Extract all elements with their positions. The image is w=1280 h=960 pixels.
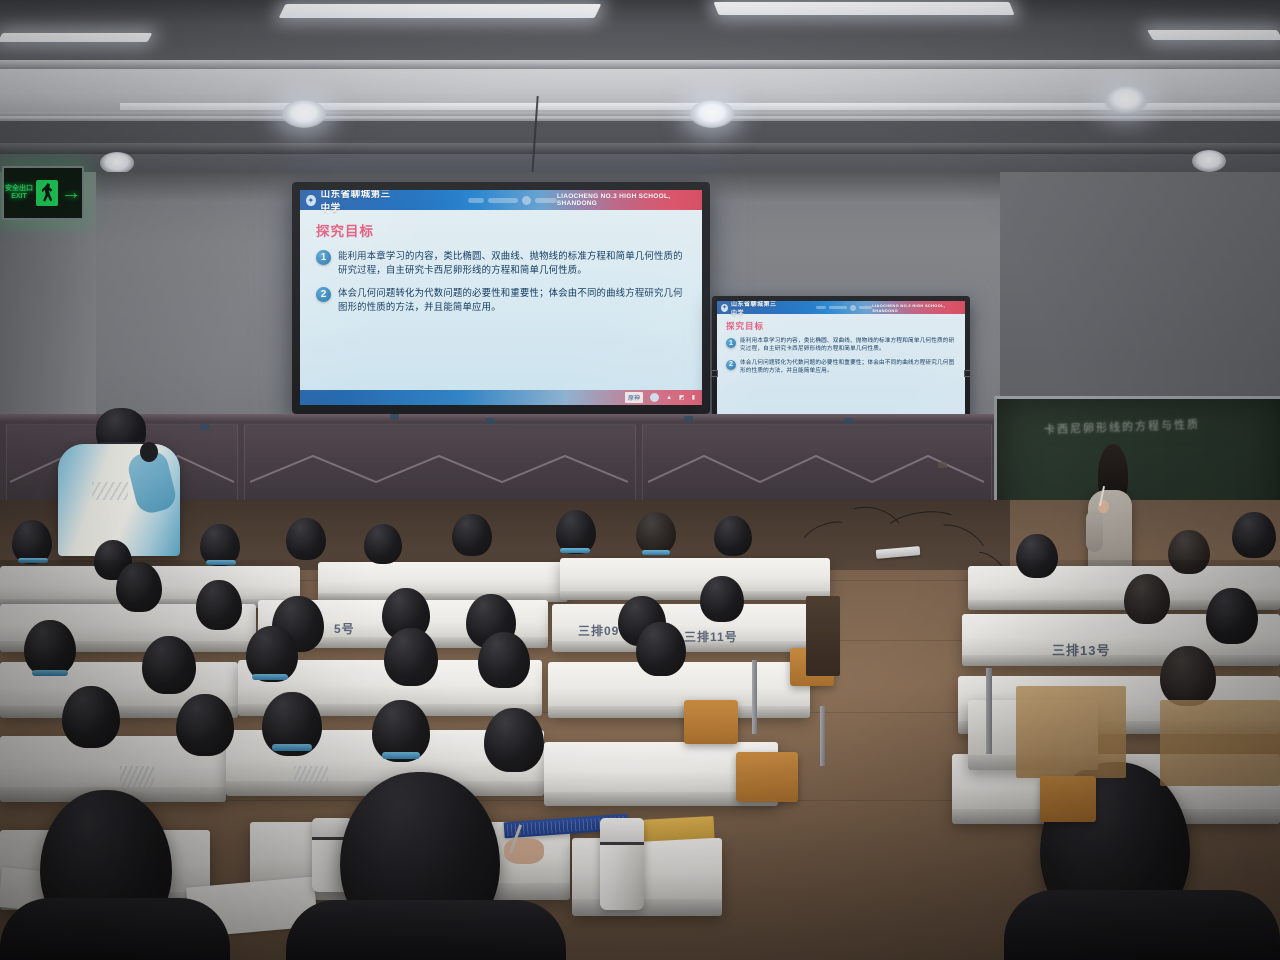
- ceiling-downlight: [1192, 150, 1226, 172]
- ceiling-downlight: [100, 152, 134, 174]
- slide-title: 探究目标: [726, 320, 957, 332]
- slide-header-decor: [816, 305, 872, 311]
- main-projection-screen[interactable]: ✦ 山东省聊城第三中学 LIAOCHENG NO.3 HIGH SCHOOL, …: [292, 182, 710, 414]
- time-icon[interactable]: ▮: [692, 394, 695, 401]
- app-icon[interactable]: [650, 393, 659, 402]
- ceiling-downlight: [690, 100, 734, 128]
- ceiling-light-strip: [1147, 30, 1280, 40]
- ceiling-beam: [0, 143, 1280, 154]
- ceiling-downlight: [282, 100, 326, 128]
- wall-socket[interactable]: [684, 416, 693, 422]
- student-head: [636, 512, 676, 554]
- slide-header-bar: ✦ 山东省聊城第三中学 LIAOCHENG NO.3 HIGH SCHOOL, …: [717, 301, 965, 314]
- ceiling-downlight: [1104, 86, 1148, 114]
- bullet-number-badge: 1: [316, 250, 331, 265]
- teacher-standing-at-blackboard: [1084, 444, 1134, 576]
- floor-shadow: [0, 560, 1280, 960]
- wainscot-chevron-molding: [648, 452, 984, 486]
- slide-school-name-en: LIAOCHENG NO.3 HIGH SCHOOL, SHANDONG: [872, 303, 960, 313]
- running-man-exit-icon: [36, 180, 58, 206]
- screen-taskbar[interactable]: 原神 ▲ ◩ ▮: [300, 390, 702, 405]
- speaker-icon[interactable]: ◩: [679, 394, 685, 401]
- taskbar-app-chip[interactable]: 原神: [625, 392, 643, 403]
- teacher-arm: [1086, 510, 1103, 552]
- student-standing-front-left: [58, 404, 186, 554]
- slide-school-name-en: LIAOCHENG NO.3 HIGH SCHOOL, SHANDONG: [557, 193, 694, 207]
- slide-body: 探究目标 1 能利用本章学习的内容，类比椭圆、双曲线、抛物线的标准方程和简单几何…: [300, 210, 702, 314]
- slide-body: 探究目标 1 能利用本章学习的内容，类比椭圆、双曲线、抛物线的标准方程和简单几何…: [717, 314, 965, 376]
- monitor-side-button[interactable]: [964, 370, 971, 377]
- bullet-text: 能利用本章学习的内容，类比椭圆、双曲线、抛物线的标准方程和简单几何性质的研究过程…: [338, 249, 688, 277]
- ceiling-beam: [0, 60, 1280, 69]
- wall-right-section: [1000, 172, 1280, 422]
- slide-bullet-item: 1 能利用本章学习的内容，类比椭圆、双曲线、抛物线的标准方程和简单几何性质的研究…: [726, 337, 957, 354]
- slide-bullet-item: 1 能利用本章学习的内容，类比椭圆、双曲线、抛物线的标准方程和简单几何性质的研究…: [316, 249, 688, 277]
- bullet-text: 体会几何问题转化为代数问题的必要性和重要性；体会由不同的曲线方程研究几何图形的性…: [338, 286, 688, 314]
- student-head: [364, 524, 402, 564]
- slide-header-decor: [468, 196, 557, 205]
- wall-socket[interactable]: [486, 418, 495, 424]
- bullet-text: 能利用本章学习的内容，类比椭圆、双曲线、抛物线的标准方程和简单几何性质的研究过程…: [740, 337, 957, 354]
- exit-sign-label: 安全出口 EXIT: [5, 185, 33, 201]
- bullet-number-badge: 2: [726, 360, 736, 370]
- uniform-collar: [560, 548, 590, 553]
- school-crest-icon: ✦: [306, 195, 316, 206]
- emergency-exit-sign: 安全出口 EXIT →: [2, 166, 84, 220]
- wall-socket[interactable]: [844, 418, 853, 424]
- wainscot-chevron-molding: [250, 452, 628, 486]
- bullet-text: 体会几何问题转化为代数问题的必要性和重要性；体会由不同的曲线方程研究几何图形的性…: [740, 359, 957, 376]
- student-head: [714, 516, 752, 556]
- bullet-number-badge: 2: [316, 287, 331, 302]
- school-crest-icon: ✦: [721, 304, 728, 312]
- ceiling-light-strip: [279, 4, 602, 18]
- main-screen-display[interactable]: ✦ 山东省聊城第三中学 LIAOCHENG NO.3 HIGH SCHOOL, …: [300, 190, 702, 405]
- slide-bullet-item: 2 体会几何问题转化为代数问题的必要性和重要性；体会由不同的曲线方程研究几何图形…: [726, 359, 957, 376]
- ceiling-trim: [0, 116, 1280, 121]
- slide-header-bar: ✦ 山东省聊城第三中学 LIAOCHENG NO.3 HIGH SCHOOL, …: [300, 190, 702, 210]
- student-hand-holding-phone: [140, 442, 158, 462]
- slide-title: 探究目标: [316, 220, 688, 240]
- ceiling-light-strip: [713, 2, 1014, 15]
- slide-bullet-item: 2 体会几何问题转化为代数问题的必要性和重要性；体会由不同的曲线方程研究几何图形…: [316, 286, 688, 314]
- monitor-side-button[interactable]: [711, 370, 718, 377]
- taskbar-tray[interactable]: 原神 ▲ ◩ ▮: [625, 392, 695, 403]
- student-head: [1232, 512, 1276, 558]
- classroom-photo: 安全出口 EXIT → ✦ 山东省聊城第三中学 LIAOCHENG NO.3 H…: [0, 0, 1280, 960]
- bullet-number-badge: 1: [726, 338, 736, 348]
- wall-socket[interactable]: [390, 414, 399, 420]
- ceiling: [0, 0, 1280, 175]
- student-head: [452, 514, 492, 556]
- student-head: [286, 518, 326, 560]
- exit-arrow-icon: →: [61, 183, 81, 203]
- uniform-stripe-detail: [92, 482, 128, 500]
- ceiling-light-strip: [0, 33, 152, 42]
- wall-socket[interactable]: [200, 424, 209, 430]
- up-arrow-icon[interactable]: ▲: [666, 395, 672, 401]
- wall-socket[interactable]: [938, 462, 947, 468]
- uniform-collar: [642, 550, 670, 555]
- ceiling-recess: [0, 0, 1280, 62]
